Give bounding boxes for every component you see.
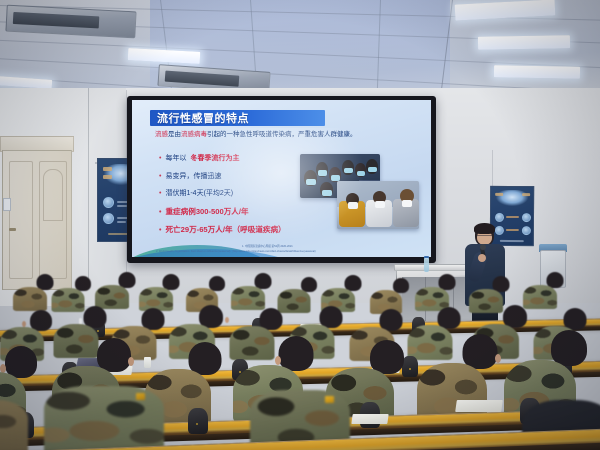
ceiling-light-panel	[478, 35, 570, 50]
list-item: • 每年以冬春季流行为主	[159, 153, 311, 163]
screen-panel: 流行性感冒的特点 流感是由流感病毒引起的一种急性呼吸道传染病，严重危害人群健康。…	[132, 100, 431, 257]
ac-vent	[13, 12, 100, 28]
poster-icon-circle	[103, 197, 114, 208]
face-mask-icon	[322, 190, 332, 196]
paper-sheet	[455, 400, 503, 412]
list-item: • 易变异，传播迅速	[159, 171, 311, 181]
bullet-text-highlight: 重症病例300-500万人/年	[165, 206, 248, 217]
ceiling-air-conditioner	[5, 5, 136, 39]
door-panel-arch	[43, 169, 63, 221]
face-mask-icon	[357, 171, 365, 176]
bullet-text-plain: 每年以	[165, 153, 186, 163]
audience-member	[104, 386, 204, 450]
person-ear	[275, 356, 281, 365]
bullet-dot-icon: •	[159, 155, 161, 162]
poster-icon-circle	[522, 213, 531, 222]
slide-title-bar: 流行性感冒的特点	[150, 110, 325, 126]
audience-member	[68, 276, 98, 310]
audience-member	[156, 274, 186, 308]
photo-sick-person	[339, 193, 365, 227]
person-head	[463, 334, 498, 369]
poster-icon-circle	[495, 213, 504, 222]
poster-chip	[522, 193, 530, 196]
photo-sick-person	[393, 189, 419, 227]
uniform-patch	[325, 396, 334, 403]
tissue-icon	[402, 200, 412, 207]
face-mask-icon	[344, 168, 353, 173]
slide-reference-line-2: 2. World Health Organization. Fact sheet…	[156, 250, 411, 254]
poster-icon-circle	[103, 213, 114, 224]
subtitle-part-2: 是由	[168, 131, 181, 138]
bullet-text-plain: 易变异，传播迅速	[165, 171, 221, 181]
face-mask-icon	[368, 167, 377, 172]
person-body	[231, 286, 265, 310]
audience-member	[112, 272, 142, 306]
person-ear	[495, 354, 501, 363]
door-panel	[9, 161, 33, 279]
seated-audience	[0, 272, 600, 450]
subtitle-part-4: 引起的一种急性呼吸道传染病，严重危害人群健康。	[207, 131, 357, 138]
slide-surface: 流行性感冒的特点 流感是由流感病毒引起的一种急性呼吸道传染病，严重危害人群健康。…	[132, 100, 431, 257]
slide-bullet-list: • 每年以冬春季流行为主 • 易变异，传播迅速 • 潜伏期1-4天(平均2天) …	[159, 153, 311, 243]
glasses-icon	[477, 235, 492, 238]
face-mask-icon	[306, 179, 316, 185]
lecture-hall-scene: 流行性感冒的特点 流感是由流感病毒引起的一种急性呼吸道传染病，严重危害人群健康。…	[0, 0, 600, 450]
poster-icon-circle	[522, 226, 531, 235]
slide-subtitle: 流感是由流感病毒引起的一种急性呼吸道传染病，严重危害人群健康。	[155, 131, 423, 139]
door-notice	[3, 198, 11, 211]
person-head	[551, 330, 587, 366]
microphone-head-icon	[480, 244, 486, 250]
audience-member	[432, 274, 462, 308]
sick-in-bed-photo	[337, 181, 419, 229]
poster-text-line	[506, 216, 519, 218]
tissue-icon	[375, 201, 385, 208]
ceiling-light-panel	[128, 48, 201, 64]
ceiling	[0, 0, 600, 96]
person-body	[0, 400, 28, 450]
poster-chip	[495, 193, 503, 196]
presenter-hair	[474, 223, 495, 234]
subtitle-part-1: 流感	[155, 131, 168, 138]
poster-text-line	[117, 221, 126, 223]
bullet-dot-icon: •	[159, 173, 161, 180]
list-item: • 潜伏期1-4天(平均2天)	[159, 188, 311, 198]
slide-reference-line-1: 1. 中国国家流感中心周报 第52周 2020-2021	[242, 244, 412, 248]
person-body	[44, 386, 164, 450]
person-body	[408, 325, 453, 360]
ceiling-light-panel	[494, 65, 580, 78]
wall-corner-edge	[88, 88, 89, 288]
person-head	[279, 336, 314, 371]
ac-vent	[165, 71, 240, 87]
poster-chip	[103, 175, 112, 179]
ceiling-light-panel	[0, 76, 52, 89]
list-item: • 重症病例300-500万人/年	[159, 206, 311, 217]
classroom-door[interactable]	[2, 150, 72, 290]
face-mask-icon	[318, 170, 327, 176]
audience-member	[540, 272, 570, 306]
audience-member	[338, 275, 368, 309]
water-bottle[interactable]	[424, 258, 429, 272]
bullet-text-plain: 潜伏期1-4天(平均2天)	[165, 188, 233, 198]
poster-chip	[103, 167, 112, 171]
presenter-hand	[478, 254, 486, 262]
bullet-dot-icon: •	[159, 190, 161, 197]
presentation-screen[interactable]: 流行性感冒的特点 流感是由流感病毒引起的一种急性呼吸道传染病，严重危害人群健康。…	[127, 96, 436, 263]
slide-title: 流行性感冒的特点	[150, 110, 249, 126]
person-ear	[225, 317, 229, 323]
poster-text-line	[117, 205, 127, 207]
person-head	[5, 346, 37, 378]
audience-member	[248, 273, 278, 307]
audience-member	[386, 278, 416, 312]
person-ear	[128, 357, 134, 366]
person-body	[13, 287, 47, 311]
photo-sick-person	[366, 191, 392, 227]
subtitle-part-3: 流感病毒	[181, 131, 207, 138]
door-handle[interactable]	[9, 228, 16, 231]
bullet-text-highlight: 冬春季流行为主	[190, 153, 239, 163]
paper-cup	[144, 357, 151, 368]
tissue-icon	[348, 202, 358, 209]
bullet-dot-icon: •	[159, 209, 161, 216]
uniform-patch	[136, 393, 145, 400]
